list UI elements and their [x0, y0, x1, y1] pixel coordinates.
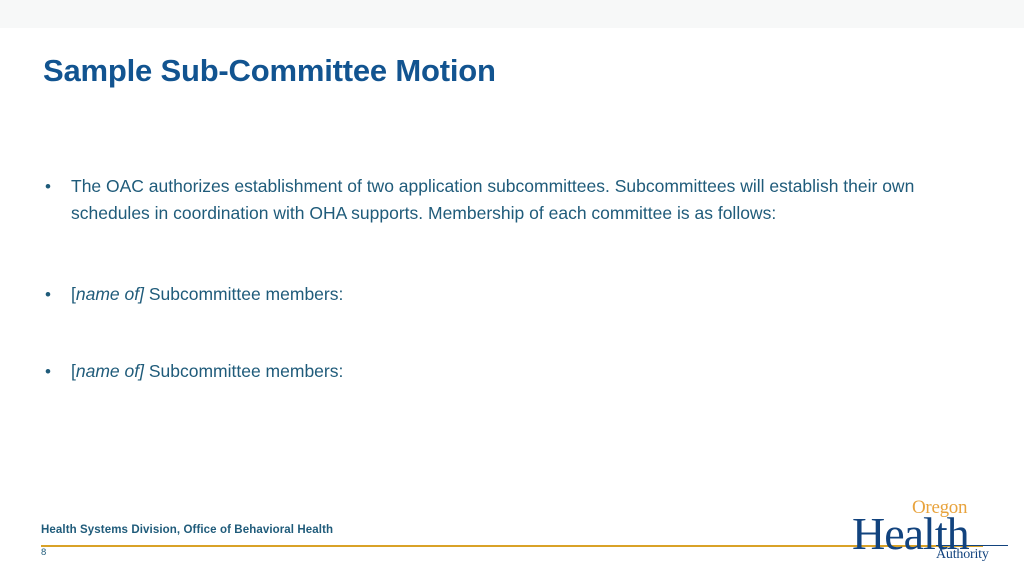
spacer-2	[43, 308, 943, 358]
footer-divider	[41, 545, 983, 547]
bullet-marker: •	[43, 281, 71, 308]
italic-placeholder-2: name of]	[76, 284, 144, 304]
bullet-marker: •	[43, 358, 71, 385]
bullet-text-3: [name of] Subcommittee members:	[71, 358, 943, 385]
logo-divider	[936, 545, 1008, 546]
bullet-text-1: The OAC authorizes establishment of two …	[71, 173, 943, 227]
spacer-1	[43, 227, 943, 281]
bullet-text-2: [name of] Subcommittee members:	[71, 281, 943, 308]
italic-placeholder-3: name of]	[76, 361, 144, 381]
page-title: Sample Sub-Committee Motion	[43, 52, 943, 90]
footer-label: Health Systems Division, Office of Behav…	[41, 524, 333, 536]
logo-authority-text: Authority	[936, 547, 989, 563]
bullet-marker: •	[43, 173, 71, 200]
slide: Sample Sub-Committee Motion • The OAC au…	[0, 0, 1024, 576]
list-item: • The OAC authorizes establishment of tw…	[43, 173, 943, 227]
list-item: • [name of] Subcommittee members:	[43, 358, 943, 385]
bullet-suffix-3: Subcommittee members:	[144, 361, 343, 381]
top-banner	[0, 0, 1024, 28]
body-content: • The OAC authorizes establishment of tw…	[43, 173, 943, 385]
list-item: • [name of] Subcommittee members:	[43, 281, 943, 308]
oregon-health-authority-logo: Oregon Health Authority	[852, 497, 1008, 563]
bullet-suffix-2: Subcommittee members:	[144, 284, 343, 304]
page-number: 8	[41, 547, 46, 558]
